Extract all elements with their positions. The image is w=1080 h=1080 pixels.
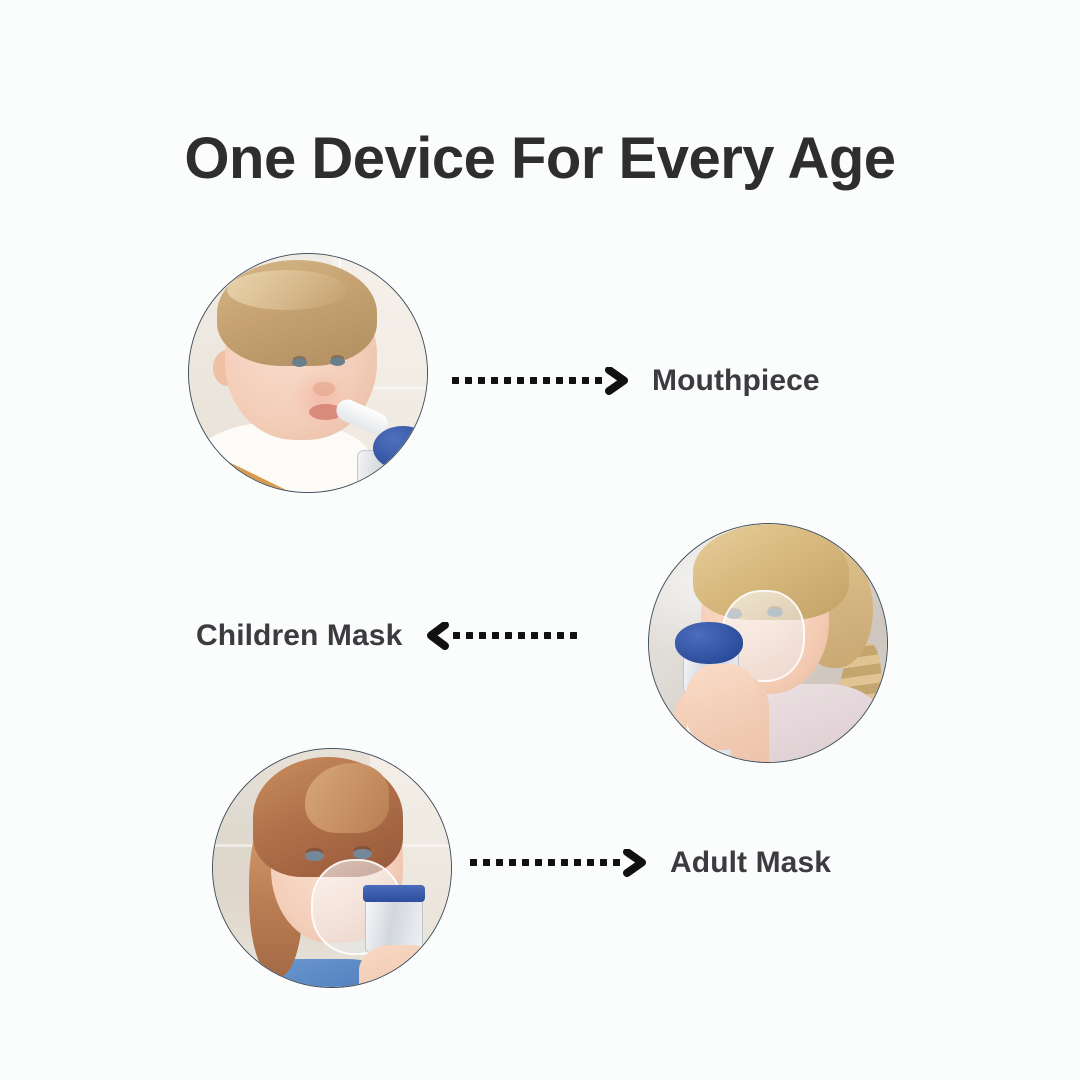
nebulizer-blue-cap — [373, 426, 427, 470]
connector-row-mouthpiece: Mouthpiece — [452, 358, 820, 404]
baby-eye-left — [292, 358, 307, 367]
adult-photo-inner — [213, 749, 451, 987]
baby-hair — [217, 260, 377, 366]
child-photo-inner — [649, 524, 887, 762]
connector-row-adult-mask: Adult Mask — [470, 840, 831, 886]
baby-eye-right — [330, 357, 345, 366]
baby-nose — [313, 382, 335, 396]
baby-using-mouthpiece-photo — [188, 253, 428, 493]
adult-scene — [213, 749, 451, 987]
adult-eye-right — [353, 849, 372, 859]
connector-row-children-mask: Children Mask — [196, 613, 578, 659]
label-adult-mask: Adult Mask — [670, 846, 831, 880]
adult-hand — [359, 945, 443, 987]
girl-using-children-mask-photo — [648, 523, 888, 763]
woman-using-adult-mask-photo — [212, 748, 452, 988]
baby-photo-inner — [189, 254, 427, 492]
baby-scene — [189, 254, 427, 492]
label-mouthpiece: Mouthpiece — [652, 364, 820, 398]
infographic-page: One Device For Every Age — [0, 0, 1080, 1080]
adult-eye-left — [305, 851, 324, 861]
child-hand — [685, 664, 759, 750]
connector-gap — [646, 863, 670, 864]
page-title: One Device For Every Age — [0, 127, 1080, 191]
dotted-arrow-right-icon — [452, 367, 628, 395]
dotted-arrow-left-icon — [426, 622, 578, 650]
connector-gap — [628, 381, 652, 382]
nebulizer-blue-cap — [363, 885, 425, 902]
child-scene — [649, 524, 887, 762]
label-children-mask: Children Mask — [196, 619, 402, 653]
dotted-arrow-right-icon — [470, 849, 646, 877]
connector-gap — [402, 636, 426, 637]
nebulizer-blue-cap — [675, 622, 743, 664]
